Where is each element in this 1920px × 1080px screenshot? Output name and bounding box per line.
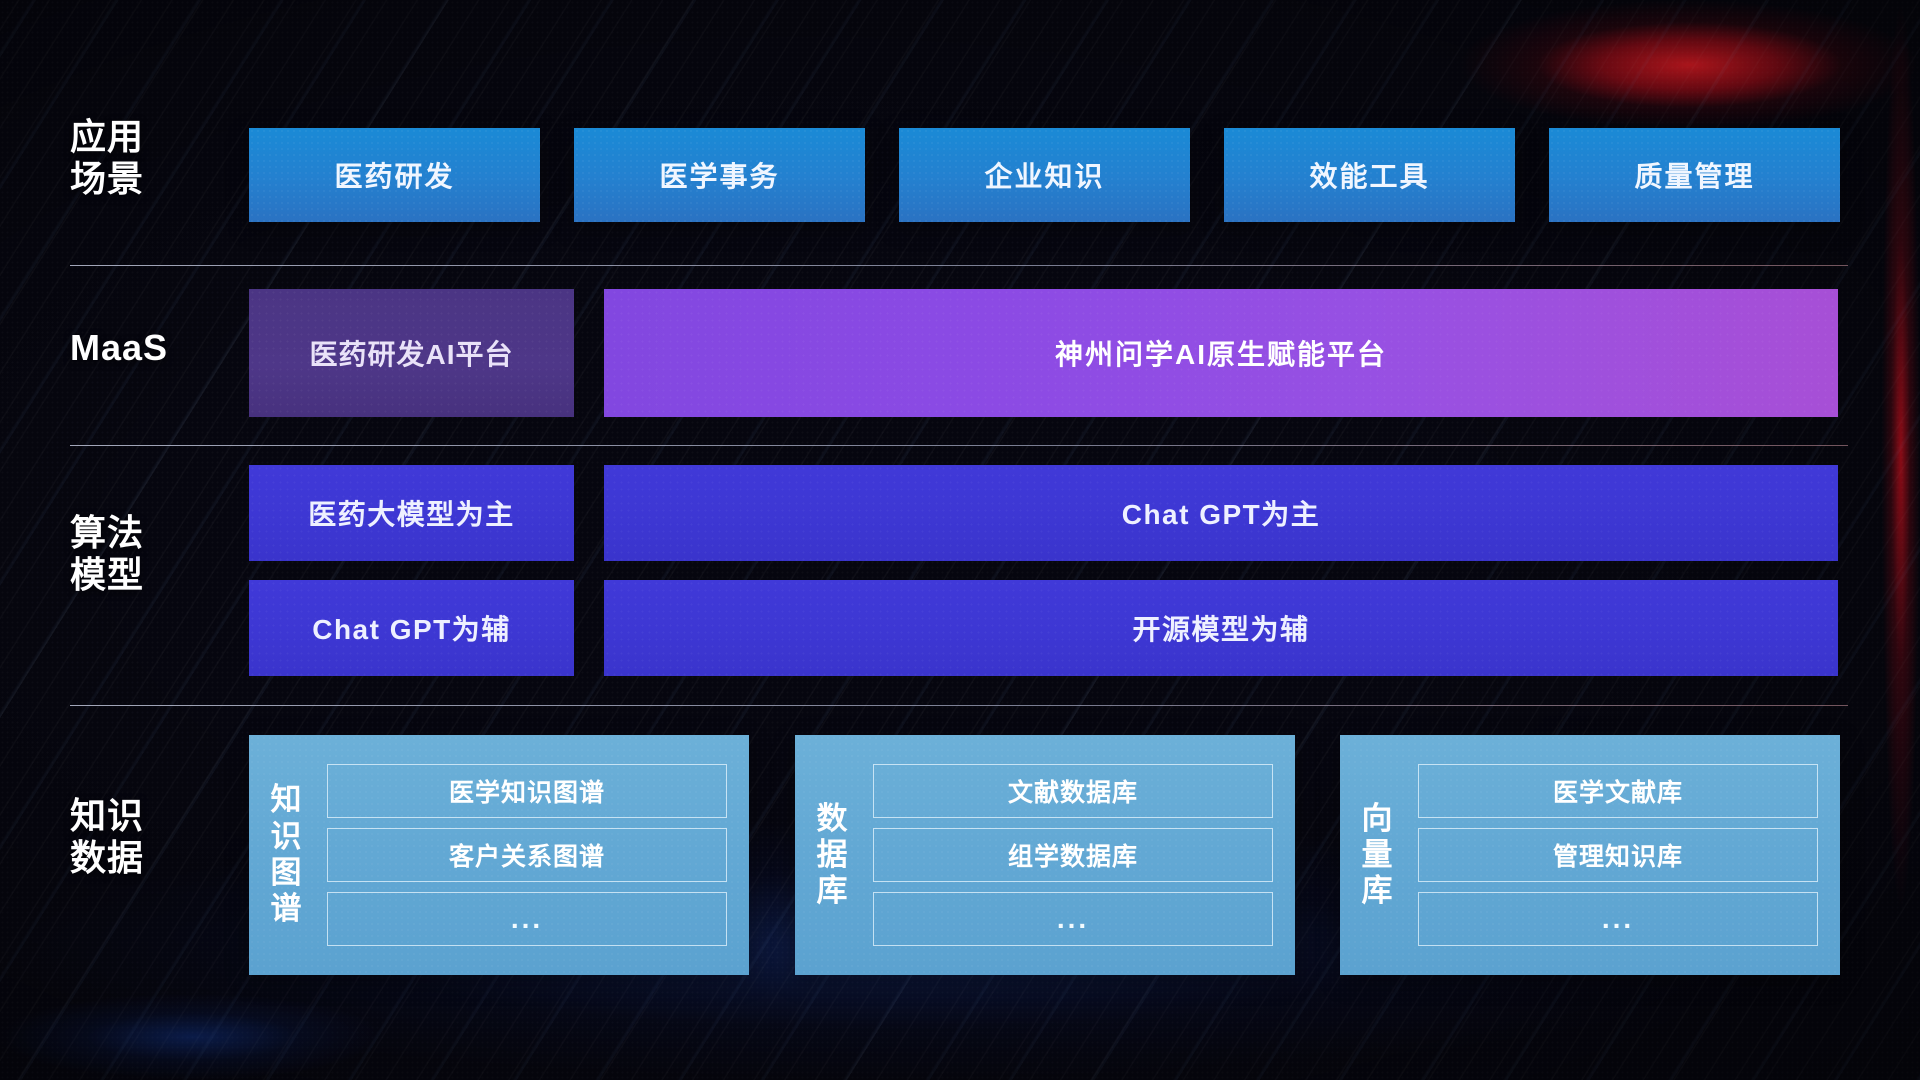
algo-box-left-1-label: Chat GPT为辅: [312, 608, 511, 648]
application-row: 应用 场景 医药研发 医学事务 企业知识 效能工具 质量管理: [0, 128, 1920, 222]
knowledge-panel-1-item-1[interactable]: 组学数据库: [873, 828, 1273, 882]
maas-left-box-label: 医药研发AI平台: [309, 333, 513, 373]
knowledge-panel-1[interactable]: 数 据 库 文献数据库 组学数据库 ...: [795, 735, 1295, 975]
row-label-algorithm-line1: 算法: [70, 512, 220, 554]
knowledge-panel-0-char-3: 谱: [271, 891, 302, 927]
knowledge-panel-1-items: 文献数据库 组学数据库 ...: [869, 735, 1295, 975]
knowledge-panel-2-item-1[interactable]: 管理知识库: [1418, 828, 1818, 882]
app-box-0-label: 医药研发: [334, 155, 454, 195]
maas-row: MaaS 医药研发AI平台 神州问学AI原生赋能平台: [0, 289, 1920, 417]
app-box-0[interactable]: 医药研发: [249, 128, 540, 222]
row-label-application: 应用 场景: [70, 116, 220, 201]
knowledge-row: 知识 数据 知 识 图 谱 医学知识图谱 客户关系图谱 ... 数 据 库: [0, 735, 1920, 975]
row-label-knowledge-line1: 知识: [70, 795, 220, 837]
knowledge-panel-2[interactable]: 向 量 库 医学文献库 管理知识库 ...: [1340, 735, 1840, 975]
maas-left-box[interactable]: 医药研发AI平台: [249, 289, 574, 417]
row-label-knowledge: 知识 数据: [70, 795, 220, 880]
algo-box-left-0[interactable]: 医药大模型为主: [249, 465, 574, 561]
algorithm-row: 算法 模型 医药大模型为主 Chat GPT为主 Chat GPT为辅 开源模型…: [0, 465, 1920, 675]
algo-box-right-1[interactable]: 开源模型为辅: [604, 580, 1838, 676]
row-label-algorithm: 算法 模型: [70, 512, 220, 597]
knowledge-panel-0-char-2: 图: [271, 855, 302, 891]
divider-maas-algorithm: [70, 445, 1848, 446]
row-label-maas: MaaS: [70, 327, 220, 369]
knowledge-panel-1-char-2: 库: [817, 873, 848, 909]
knowledge-panel-1-char-0: 数: [817, 801, 848, 837]
divider-algorithm-knowledge: [70, 705, 1848, 706]
row-label-knowledge-line2: 数据: [70, 837, 220, 879]
knowledge-panel-2-char-1: 量: [1362, 837, 1393, 873]
divider-application-maas: [70, 265, 1848, 266]
row-label-application-line1: 应用: [70, 116, 220, 158]
knowledge-panel-0-item-2[interactable]: ...: [327, 892, 727, 946]
app-box-3[interactable]: 效能工具: [1224, 128, 1515, 222]
knowledge-panel-2-vertical-label: 向 量 库: [1340, 735, 1414, 975]
algo-box-right-0[interactable]: Chat GPT为主: [604, 465, 1838, 561]
knowledge-panel-0-char-1: 识: [271, 819, 302, 855]
knowledge-panel-1-item-2[interactable]: ...: [873, 892, 1273, 946]
row-label-application-line2: 场景: [70, 158, 220, 200]
maas-right-box-label: 神州问学AI原生赋能平台: [1055, 333, 1387, 373]
knowledge-panel-0-items: 医学知识图谱 客户关系图谱 ...: [323, 735, 749, 975]
app-box-1-label: 医学事务: [659, 155, 779, 195]
knowledge-panel-2-char-2: 库: [1362, 873, 1393, 909]
app-box-2-label: 企业知识: [984, 155, 1104, 195]
row-label-algorithm-line2: 模型: [70, 554, 220, 596]
knowledge-panel-2-item-2[interactable]: ...: [1418, 892, 1818, 946]
knowledge-panel-0-char-0: 知: [271, 782, 302, 818]
app-box-3-label: 效能工具: [1309, 155, 1429, 195]
app-box-4[interactable]: 质量管理: [1549, 128, 1840, 222]
knowledge-panel-0-item-0[interactable]: 医学知识图谱: [327, 764, 727, 818]
maas-right-box[interactable]: 神州问学AI原生赋能平台: [604, 289, 1838, 417]
app-box-1[interactable]: 医学事务: [574, 128, 865, 222]
algo-box-right-0-label: Chat GPT为主: [1122, 493, 1321, 533]
knowledge-panel-1-vertical-label: 数 据 库: [795, 735, 869, 975]
algo-box-left-0-label: 医药大模型为主: [308, 493, 515, 533]
algo-box-right-1-label: 开源模型为辅: [1132, 608, 1309, 648]
knowledge-panel-2-char-0: 向: [1362, 801, 1393, 837]
knowledge-panel-1-item-0[interactable]: 文献数据库: [873, 764, 1273, 818]
knowledge-panel-0-vertical-label: 知 识 图 谱: [249, 735, 323, 975]
architecture-diagram: 应用 场景 医药研发 医学事务 企业知识 效能工具 质量管理 MaaS 医药研发…: [0, 0, 1920, 1080]
knowledge-panel-0[interactable]: 知 识 图 谱 医学知识图谱 客户关系图谱 ...: [249, 735, 749, 975]
knowledge-panel-2-item-0[interactable]: 医学文献库: [1418, 764, 1818, 818]
app-box-4-label: 质量管理: [1634, 155, 1754, 195]
knowledge-panel-2-items: 医学文献库 管理知识库 ...: [1414, 735, 1840, 975]
knowledge-panel-0-item-1[interactable]: 客户关系图谱: [327, 828, 727, 882]
knowledge-panel-1-char-1: 据: [817, 837, 848, 873]
app-box-2[interactable]: 企业知识: [899, 128, 1190, 222]
algo-box-left-1[interactable]: Chat GPT为辅: [249, 580, 574, 676]
